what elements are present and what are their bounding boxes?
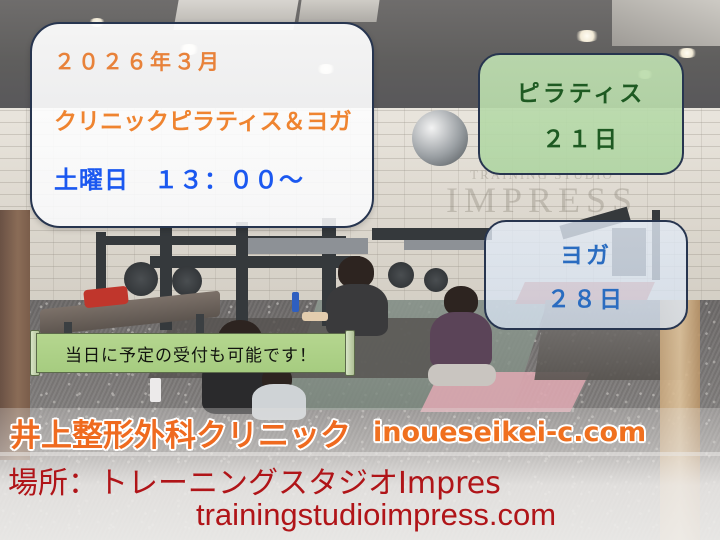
water-bottle	[292, 292, 299, 312]
weight-plate	[124, 262, 158, 296]
clinic-website-url[interactable]: inoueseikei-c.com	[373, 417, 646, 448]
yoga-date: ２８日	[547, 280, 625, 314]
rack-beam	[372, 228, 492, 240]
downlight-icon	[574, 30, 600, 42]
venue-line: 場所：トレーニングスタジオImpres	[8, 458, 501, 502]
water-bottle	[150, 378, 161, 402]
pilates-card: ピラティス ２１日	[478, 53, 684, 175]
weight-plate	[388, 262, 414, 288]
flyer-canvas: TRAINING STUDIO IMPRESS	[0, 0, 720, 540]
wall-logo-bottom-text: IMPRESS	[392, 182, 692, 220]
clinic-footer-row: 井上整形外科クリニック inoueseikei-c.com	[10, 412, 710, 452]
ceiling-ac-panel-2	[298, 0, 379, 22]
studio-website-url[interactable]: trainingstudioimpress.com	[196, 497, 556, 533]
weight-plate	[172, 266, 202, 296]
clinic-name: 井上整形外科クリニック	[10, 410, 351, 455]
main-info-card: ２０２６年３月 クリニックピラティス＆ヨガ 土曜日 １３：００～	[30, 22, 374, 228]
weight-plate	[424, 268, 448, 292]
yoga-card: ヨガ ２８日	[484, 220, 688, 330]
schedule-month: ２０２６年３月	[54, 46, 372, 76]
wall-mirror-sphere	[412, 110, 468, 166]
walk-in-note-text: 当日に予定の受付も可能です！	[65, 341, 317, 366]
downlight-icon	[676, 48, 698, 58]
pilates-date: ２１日	[542, 120, 620, 154]
yoga-label: ヨガ	[560, 236, 612, 270]
program-title: クリニックピラティス＆ヨガ	[54, 102, 372, 136]
rack-arm	[248, 238, 368, 254]
schedule-time: 土曜日 １３：００～	[54, 160, 372, 195]
ceiling-ac-panel-3	[612, 0, 720, 46]
rack-arm	[404, 240, 484, 250]
pilates-label: ピラティス	[517, 74, 646, 108]
towel	[302, 312, 328, 321]
ribbon-cap-right	[345, 330, 355, 376]
walk-in-note-ribbon: 当日に予定の受付も可能です！	[36, 333, 346, 373]
